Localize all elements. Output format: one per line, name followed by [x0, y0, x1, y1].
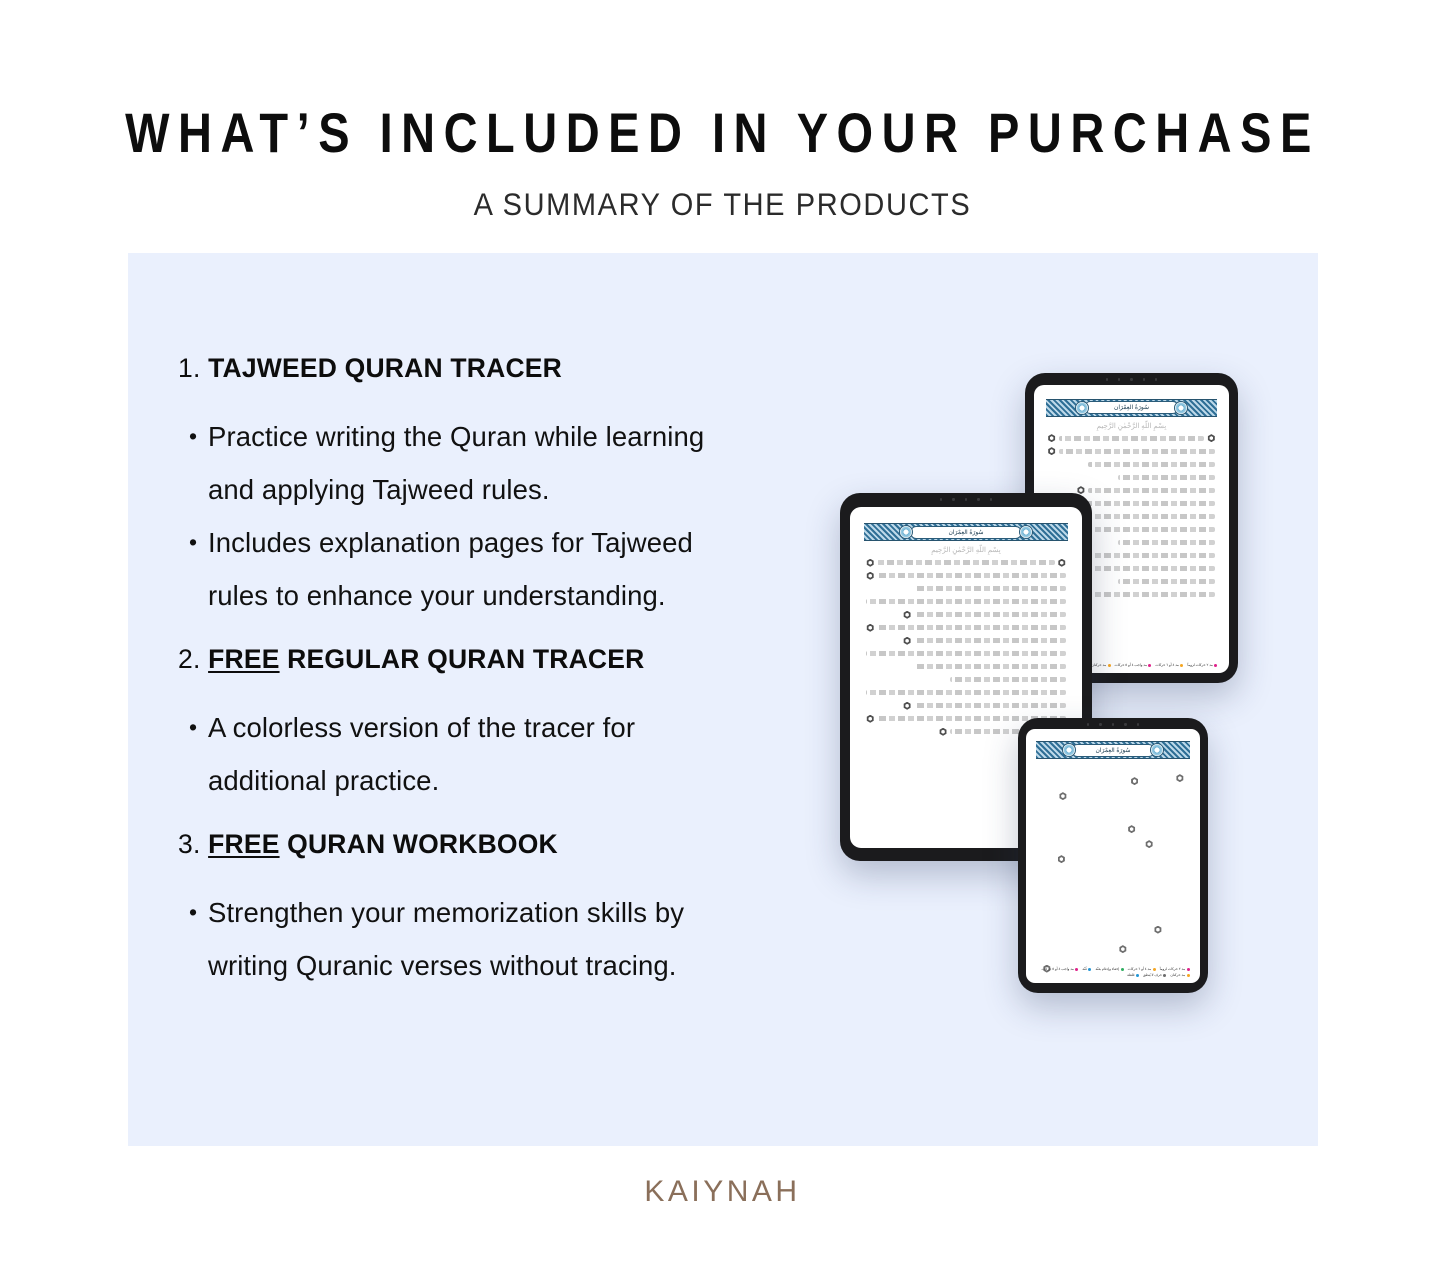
list-item: and applying Tajweed rules. — [178, 463, 878, 516]
surah-header-banner: سُورَةُ العِمْرَان — [1046, 399, 1218, 417]
product-number-1: 1. — [178, 353, 201, 383]
product-number-2: 2. — [178, 644, 201, 674]
product-number-3: 3. — [178, 829, 201, 859]
ornament-medallion-icon — [1150, 743, 1164, 757]
free-badge-3: FREE — [208, 829, 279, 859]
product-title-3: QURAN WORKBOOK — [287, 829, 558, 859]
list-item: rules to enhance your understanding. — [178, 569, 878, 622]
camera-dots-icon — [1087, 723, 1139, 726]
legend-label: غُنّة — [1082, 967, 1087, 972]
ornament-medallion-icon — [1019, 525, 1033, 539]
bullet-text: A colorless version of the tracer for — [208, 701, 808, 754]
bullet-icon: • — [178, 410, 208, 463]
product-heading-1: 1. TAJWEED QURAN TRACER — [178, 353, 878, 384]
product-heading-3: 3. FREE QURAN WORKBOOK — [178, 829, 878, 860]
product-title-1: TAJWEED QURAN TRACER — [208, 353, 562, 383]
page-subtitle: A SUMMARY OF THE PRODUCTS — [0, 137, 1445, 224]
page-header: WHAT’S INCLUDED IN YOUR PURCHASE A SUMMA… — [0, 0, 1445, 216]
surah-title: سُورَةُ العِمْرَان — [1071, 744, 1156, 757]
blank-writing-area — [1040, 765, 1186, 915]
content-panel: 1. TAJWEED QURAN TRACER • Practice writi… — [128, 253, 1318, 1146]
bullet-text: and applying Tajweed rules. — [208, 463, 808, 516]
legend-label: إخفاء وإدغام بغنّة — [1095, 967, 1119, 972]
device-mockup-group: سُورَةُ العِمْرَان بِسْمِ اللّهِ الرَّحْ… — [818, 373, 1278, 1053]
workbook-tablet: سُورَةُ العِمْرَان مد ٢ حركات لزوماً — [1018, 718, 1208, 993]
spacer — [178, 807, 878, 829]
spacer — [178, 622, 878, 644]
basmala-text: بِسْمِ اللّهِ الرَّحْمٰنِ الرَّحِيمِ — [850, 546, 1082, 554]
legend-label: مد حركتان — [1170, 973, 1185, 978]
legend-label: مد واجب ٤ أو ٥ حركات — [1041, 967, 1073, 972]
tajweed-legend: مد ٢ حركات لزوماً مد ٤ أو ٦ حركات إخفاء … — [1036, 967, 1189, 978]
surah-header-banner: سُورَةُ العِمْرَان — [864, 523, 1068, 541]
bullet-text: Strengthen your memorization skills by — [208, 886, 808, 939]
legend-label: مد ٢ حركات لزوماً — [1187, 663, 1212, 668]
bullet-text: rules to enhance your understanding. — [208, 569, 808, 622]
legend-label: حرف لا يُنطق — [1143, 973, 1162, 978]
legend-label: مد حركتان — [1091, 663, 1106, 668]
list-item: • A colorless version of the tracer for — [178, 701, 878, 754]
camera-dots-icon — [1106, 378, 1158, 381]
brand-footer: KAIYNAH — [0, 1175, 1445, 1209]
ornament-medallion-icon — [1174, 401, 1188, 415]
list-item: • Practice writing the Quran while learn… — [178, 410, 878, 463]
legend-label: مد واجب ٤ أو ٥ حركات — [1115, 663, 1147, 668]
bullet-icon: • — [178, 516, 208, 569]
surah-title: سُورَةُ العِمْرَان — [1084, 401, 1179, 414]
legend-label: مد ٤ أو ٦ حركات — [1155, 663, 1178, 668]
bullet-icon: • — [178, 886, 208, 939]
list-item: • Includes explanation pages for Tajweed — [178, 516, 878, 569]
spacer — [178, 675, 878, 701]
products-list: 1. TAJWEED QURAN TRACER • Practice writi… — [178, 353, 878, 992]
bullet-text: Includes explanation pages for Tajweed — [208, 516, 808, 569]
list-item: writing Quranic verses without tracing. — [178, 939, 878, 992]
surah-title: سُورَةُ العِمْرَان — [910, 526, 1022, 539]
legend-label: مد ٢ حركات لزوماً — [1160, 967, 1185, 972]
bullet-text: additional practice. — [208, 754, 808, 807]
legend-label: مد ٤ أو ٦ حركات — [1128, 967, 1151, 972]
ornament-medallion-icon — [1075, 401, 1089, 415]
legend-label: قلقلة — [1127, 973, 1134, 978]
spacer — [178, 384, 878, 410]
spacer — [178, 860, 878, 886]
ornament-medallion-icon — [899, 525, 913, 539]
camera-dots-icon — [940, 498, 992, 501]
list-item: • Strengthen your memorization skills by — [178, 886, 878, 939]
quran-text-lines — [866, 558, 1066, 736]
product-heading-2: 2. FREE REGULAR QURAN TRACER — [178, 644, 878, 675]
surah-header-banner: سُورَةُ العِمْرَان — [1036, 741, 1189, 759]
free-badge-2: FREE — [208, 644, 279, 674]
list-item: additional practice. — [178, 754, 878, 807]
bullet-text: writing Quranic verses without tracing. — [208, 939, 808, 992]
basmala-text: بِسْمِ اللّهِ الرَّحْمٰنِ الرَّحِيمِ — [1034, 422, 1229, 430]
bullet-icon: • — [178, 701, 208, 754]
bullet-text: Practice writing the Quran while learnin… — [208, 410, 808, 463]
tablet-screen: سُورَةُ العِمْرَان مد ٢ حركات لزوماً — [1026, 729, 1200, 983]
product-title-2: REGULAR QURAN TRACER — [287, 644, 644, 674]
